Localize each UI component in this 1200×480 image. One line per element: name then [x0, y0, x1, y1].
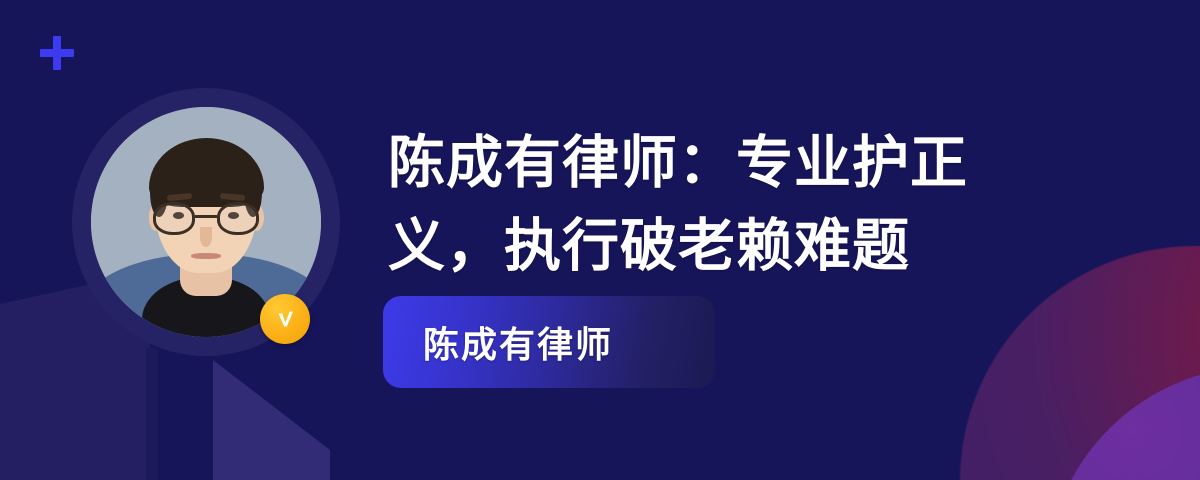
plus-icon — [40, 36, 74, 70]
avatar[interactable] — [72, 88, 340, 356]
page-title: 陈成有律师：专业护正 义，执行破老赖难题 — [388, 122, 1068, 288]
verified-badge-icon — [260, 294, 310, 344]
profile-banner: 陈成有律师：专业护正 义，执行破老赖难题 陈成有律师 — [0, 0, 1200, 480]
left-polygon-edge-decoration — [146, 348, 158, 480]
author-name-label: 陈成有律师 — [423, 316, 613, 368]
author-name-pill[interactable]: 陈成有律师 — [383, 296, 715, 388]
